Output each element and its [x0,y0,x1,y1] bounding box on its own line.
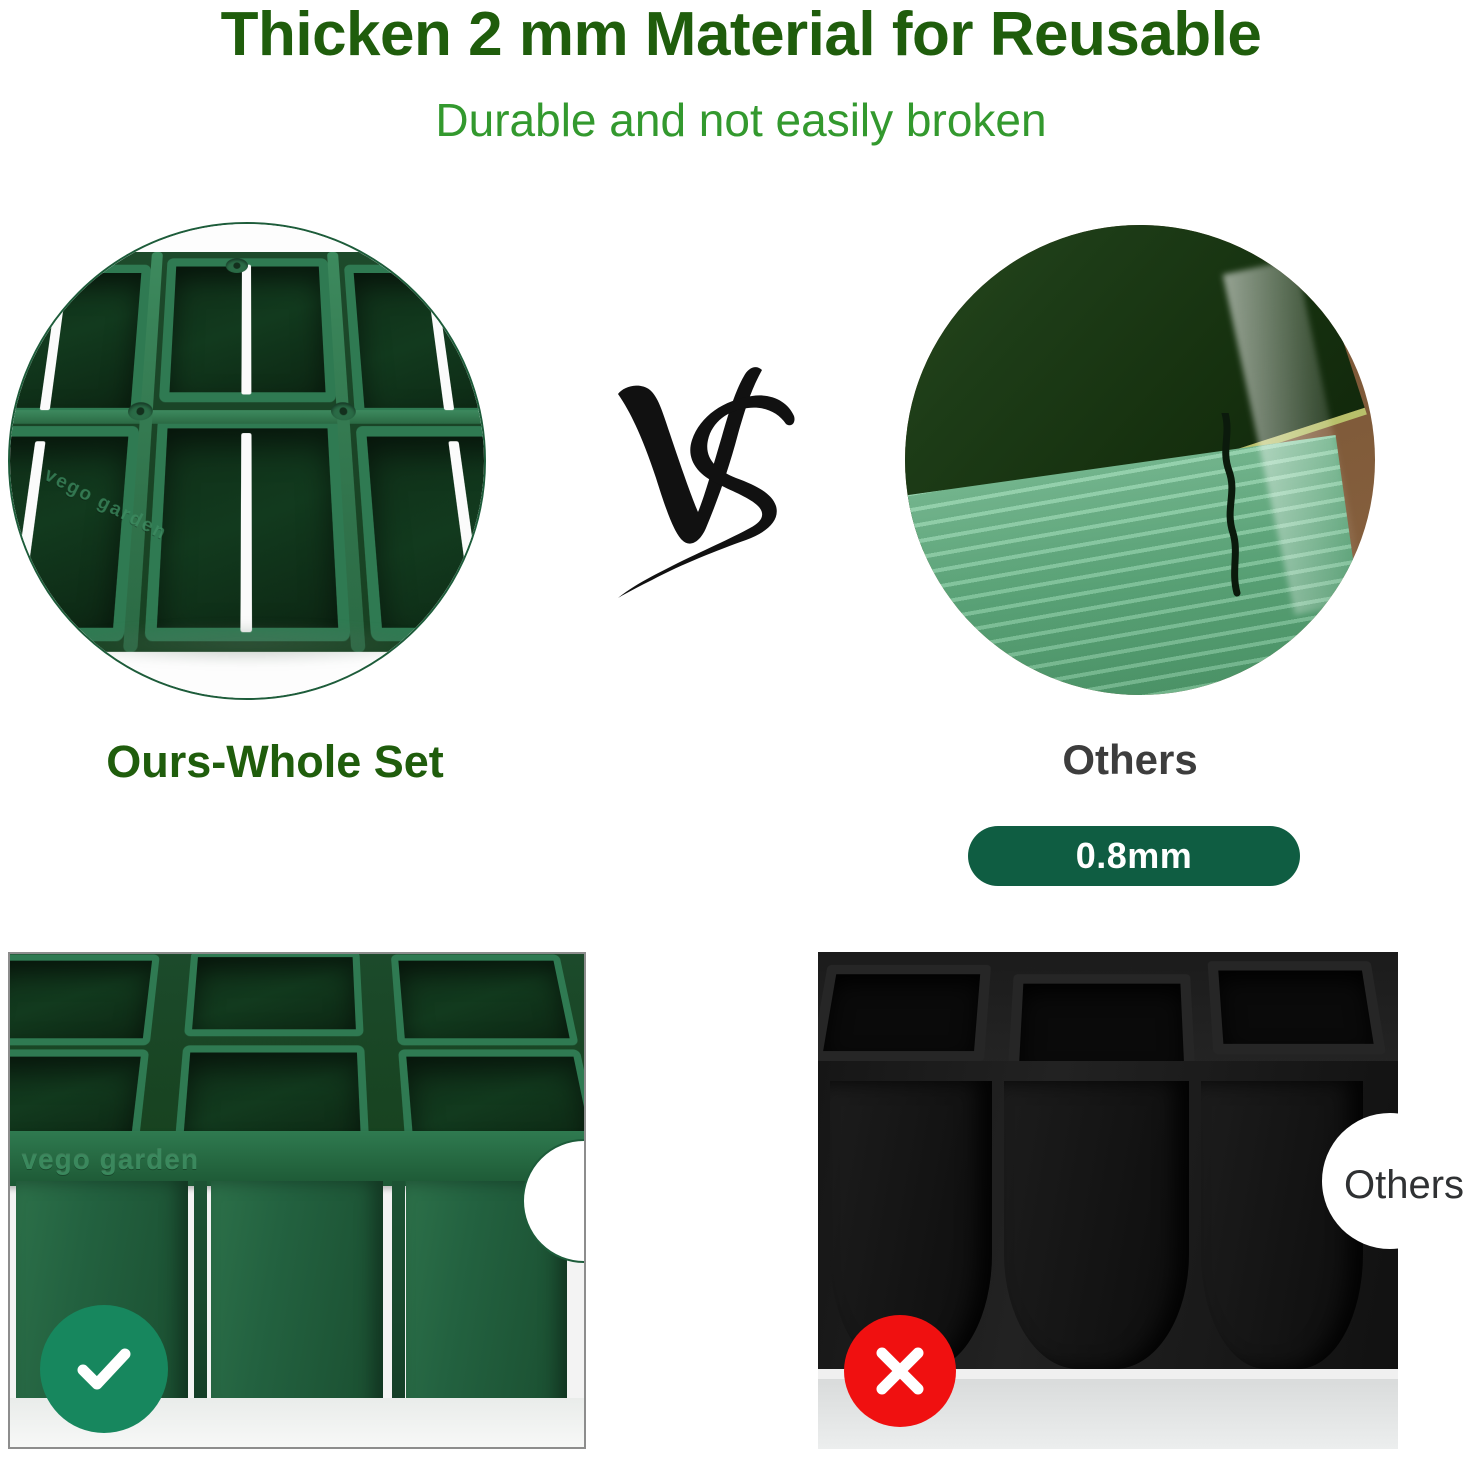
tray-connector-nub [225,259,247,274]
ours-label: Ours-Whole Set [40,736,510,788]
thickness-badge: 0.8mm [968,826,1300,886]
ours-detail-panel: vego garden [8,952,586,1449]
tray-fin [392,1181,405,1413]
vs-brush-mark-icon [600,352,815,602]
tray-body [8,252,486,652]
drainage-slot [241,265,251,395]
tray-drop-shadow [48,622,446,665]
cracked-pot-scene [905,225,1375,695]
pot-cell [818,964,991,1060]
tray-cell [343,265,486,418]
tray-fin [194,1181,207,1413]
pot-cup [1004,1081,1190,1369]
drainage-slot [240,434,252,632]
others-label: Others [950,736,1310,784]
page-title: Thicken 2 mm Material for Reusable [0,2,1482,67]
tray-cell [8,955,159,1045]
tray-rim [8,411,486,425]
tray-scene: vego garden [10,224,484,698]
check-icon [40,1305,168,1433]
others-detail-panel [818,952,1398,1449]
crack-line-icon [1215,413,1281,613]
tray-cell [391,955,579,1045]
product-comparison-infographic: Thicken 2 mm Material for Reusable Durab… [0,0,1482,1457]
pot-cell [1207,961,1386,1054]
cross-icon [844,1315,956,1427]
ours-detail-brand-emboss: vego garden [21,1144,198,1176]
ours-product-circle-image: vego garden [8,222,486,700]
tray-cell [184,952,364,1037]
others-product-circle-image [905,225,1375,695]
tray-cup [211,1181,383,1418]
others-detail-label: Others [1344,1163,1464,1208]
page-subtitle: Durable and not easily broken [0,95,1482,146]
tray-cell [8,265,151,418]
ours-top-grid [8,952,586,1155]
